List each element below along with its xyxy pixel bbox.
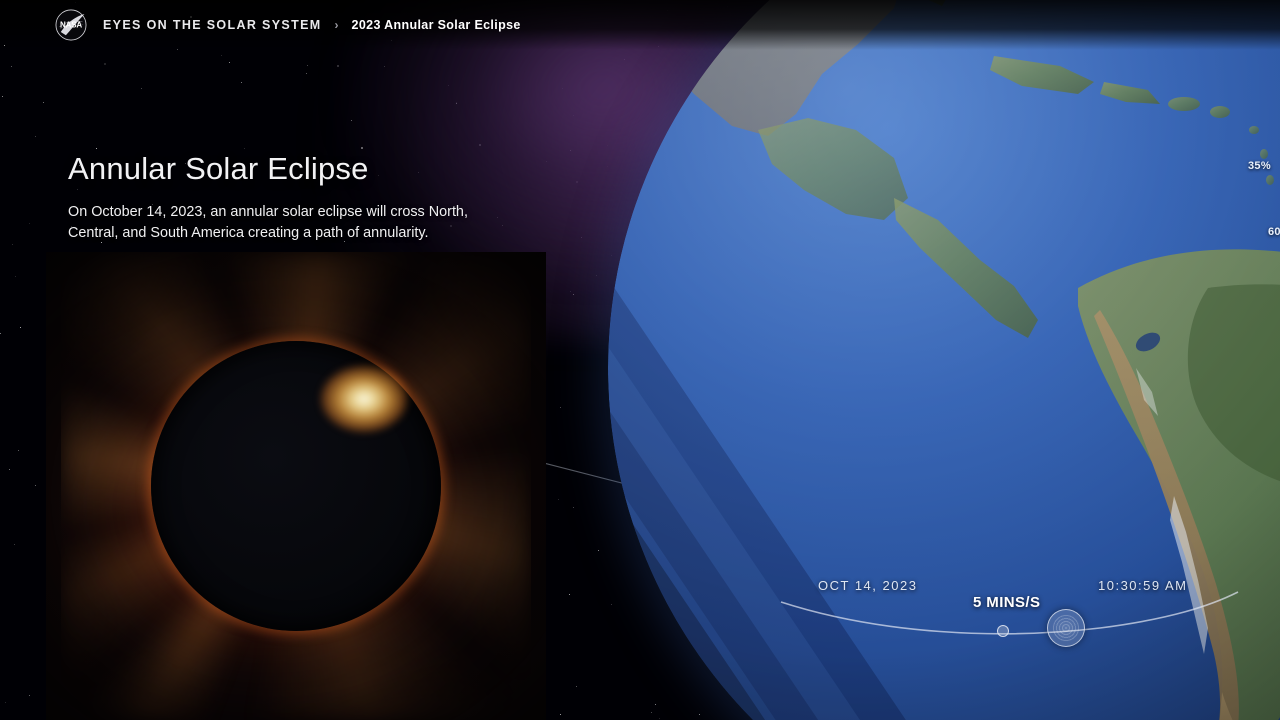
nasa-logo-text: NASA bbox=[60, 21, 82, 30]
eyes-on-the-solar-system-viewer[interactable]: 35% 60 NASA EYES ON THE SOLAR SYSTEM › 2… bbox=[0, 0, 1280, 720]
breadcrumb-current-page[interactable]: 2023 Annular Solar Eclipse bbox=[352, 18, 521, 32]
photo-vignette bbox=[46, 252, 546, 720]
eclipse-photograph bbox=[46, 252, 546, 720]
timeline-scrubber-handle[interactable] bbox=[1047, 609, 1085, 647]
page-description: On October 14, 2023, an annular solar ec… bbox=[68, 202, 480, 244]
magnitude-label-60: 60 bbox=[1268, 226, 1280, 238]
timeline-tick-marker[interactable] bbox=[997, 625, 1009, 637]
info-panel: Annular Solar Eclipse On October 14, 202… bbox=[68, 152, 538, 244]
magnitude-label-35: 35% bbox=[1248, 160, 1271, 172]
nasa-meatball-logo[interactable]: NASA bbox=[55, 9, 87, 41]
earth-globe[interactable] bbox=[608, 0, 1280, 720]
breadcrumb-chevron-icon: › bbox=[335, 18, 339, 32]
page-title: Annular Solar Eclipse bbox=[68, 152, 538, 186]
app-header: NASA EYES ON THE SOLAR SYSTEM › 2023 Ann… bbox=[0, 0, 1280, 50]
app-brand-name[interactable]: EYES ON THE SOLAR SYSTEM bbox=[103, 18, 322, 32]
earth-limb-shading bbox=[608, 0, 1280, 720]
